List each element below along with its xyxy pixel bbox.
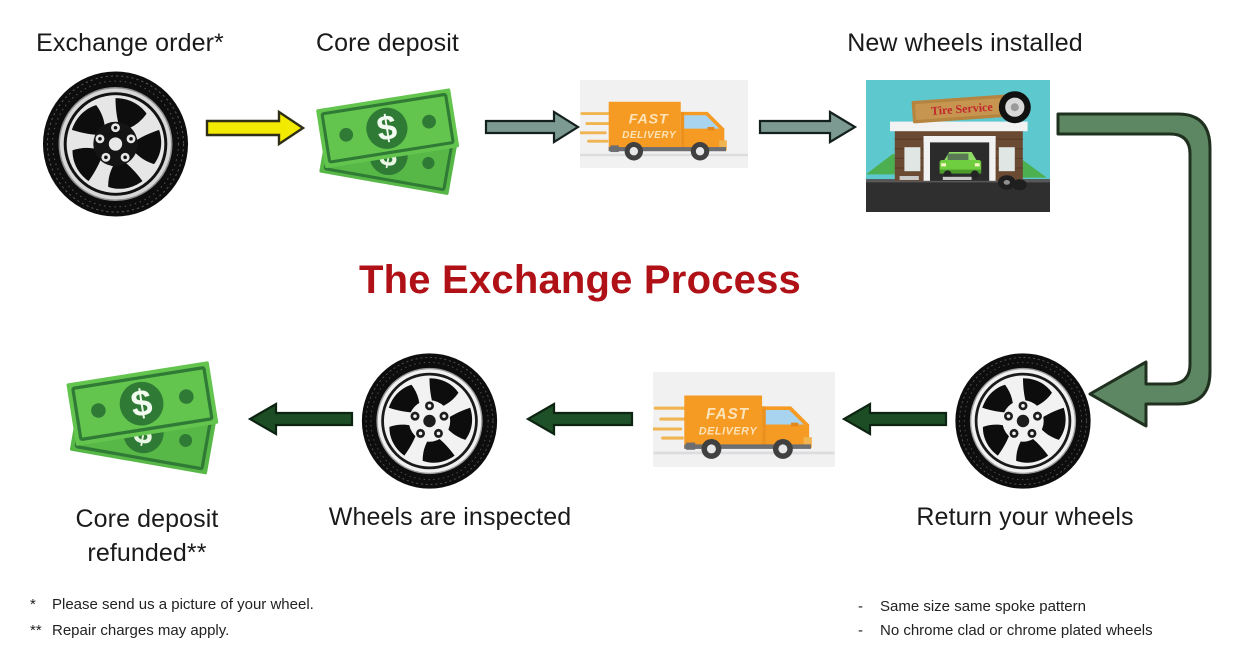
delivery-truck-icon: FAST DELIVERY: [580, 80, 748, 168]
step-label-core-deposit-refunded: Core deposit refunded**: [25, 502, 269, 570]
svg-text:FAST: FAST: [706, 406, 750, 423]
arrow-return-to-shipping: [840, 402, 948, 436]
step-label-core-deposit: Core deposit: [270, 28, 505, 59]
footnote-text: No chrome clad or chrome plated wheels: [880, 622, 1153, 639]
step-label-return-your-wheels: Return your wheels: [890, 502, 1160, 533]
alloy-wheel-icon: [38, 70, 193, 218]
footnote-right-2: -No chrome clad or chrome plated wheels: [858, 618, 1153, 644]
cash-money-icon-refund: $ $: [58, 350, 236, 480]
footnote-left-2: **Repair charges may apply.: [30, 618, 229, 644]
footnote-left-1: *Please send us a picture of your wheel.: [30, 592, 314, 618]
footnote-text: Same size same spoke pattern: [880, 598, 1086, 615]
footnote-marker: **: [30, 618, 52, 644]
arrow-order-to-deposit: [205, 110, 305, 146]
footnote-text: Repair charges may apply.: [52, 622, 229, 639]
svg-text:DELIVERY: DELIVERY: [699, 425, 759, 437]
alloy-wheel-icon-inspected: [358, 352, 501, 490]
tire-service-shop-icon: Tire Service: [866, 80, 1050, 212]
arrow-shipping-to-inspect: [524, 402, 634, 436]
bullet-dash-icon: -: [858, 618, 880, 644]
delivery-truck-icon-return: FAST DELIVERY: [653, 372, 835, 467]
bullet-dash-icon: -: [858, 594, 880, 620]
svg-text:FAST: FAST: [629, 112, 669, 128]
step-label-exchange-order: Exchange order*: [0, 28, 260, 59]
arrow-inspect-to-refund: [246, 402, 354, 436]
cash-money-icon: $ $: [307, 78, 477, 200]
footnote-text: Please send us a picture of your wheel.: [52, 596, 314, 613]
footnote-marker: *: [30, 592, 52, 618]
arrow-shipping-to-shop: [758, 110, 858, 144]
alloy-wheel-icon-return: [952, 352, 1094, 490]
page-title: The Exchange Process: [0, 258, 1160, 303]
svg-text:DELIVERY: DELIVERY: [622, 130, 677, 141]
step-label-wheels-inspected: Wheels are inspected: [290, 502, 610, 533]
footnote-right-1: -Same size same spoke pattern: [858, 594, 1086, 620]
step-label-new-wheels-installed: New wheels installed: [800, 28, 1130, 59]
exchange-process-diagram: Exchange order* Core deposit New wheels …: [0, 0, 1250, 666]
arrow-deposit-to-shipping: [484, 110, 580, 144]
